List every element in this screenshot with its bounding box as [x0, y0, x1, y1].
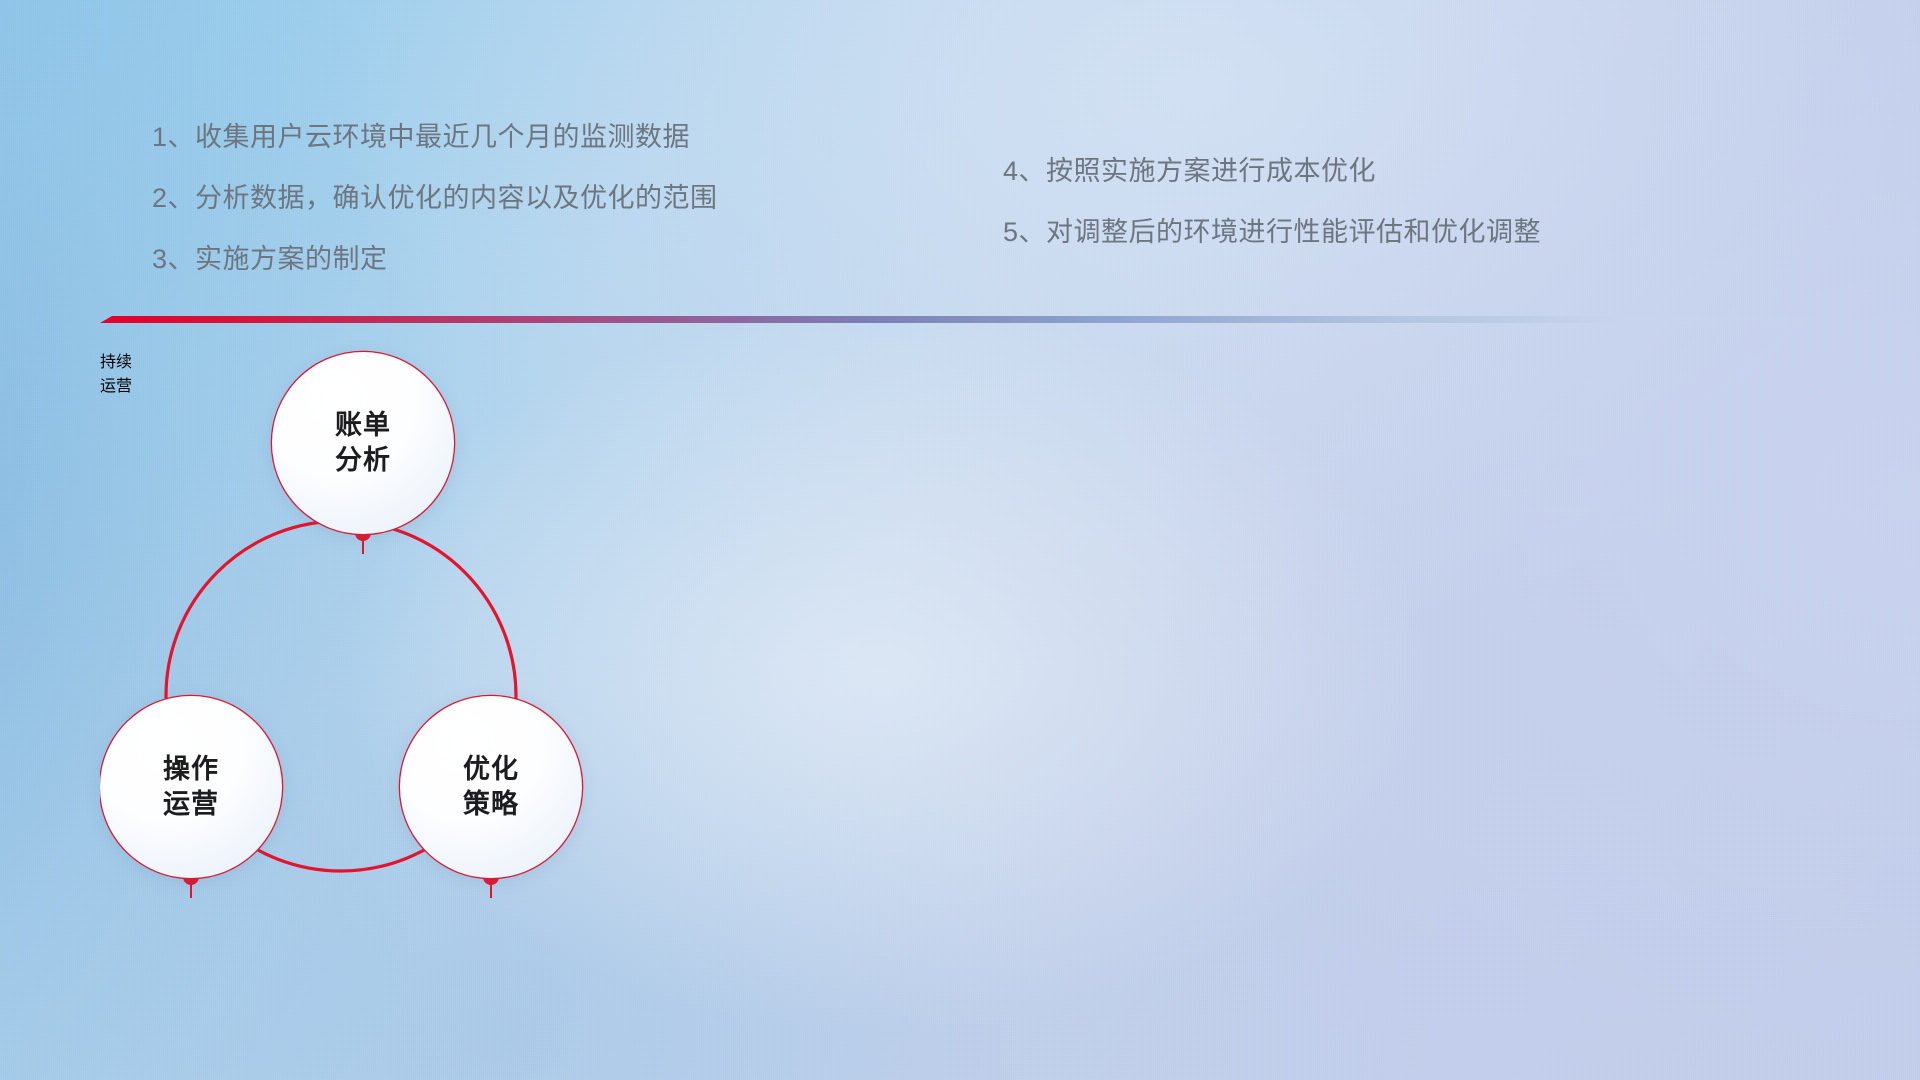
section-divider-rule: [100, 316, 1842, 323]
node-label-line2: 策略: [463, 787, 519, 822]
diagram-node-operations[interactable]: 操作 运营: [100, 696, 282, 878]
node-label-line2: 分析: [335, 443, 391, 478]
node-label-line1: 操作: [163, 752, 219, 787]
step-item-3: 3、实施方案的制定: [152, 246, 718, 273]
diagram-node-bill-analysis[interactable]: 账单 分析: [272, 352, 454, 534]
slide-canvas: 1、收集用户云环境中最近几个月的监测数据 2、分析数据，确认优化的内容以及优化的…: [0, 0, 1920, 1080]
step-item-1: 1、收集用户云环境中最近几个月的监测数据: [152, 124, 718, 151]
step-list-right: 4、按照实施方案进行成本优化 5、对调整后的环境进行性能评估和优化调整: [1003, 158, 1541, 246]
step-item-5: 5、对调整后的环境进行性能评估和优化调整: [1003, 219, 1541, 246]
node-label-line1: 优化: [463, 752, 519, 787]
step-item-2: 2、分析数据，确认优化的内容以及优化的范围: [152, 185, 718, 212]
node-label-line2: 运营: [163, 787, 219, 822]
continuous-operation-diagram: 账单 分析 操作 运营 优化 策略 持续 运营: [100, 348, 660, 958]
diagram-node-optimization-strategy[interactable]: 优化 策略: [400, 696, 582, 878]
node-label-line1: 账单: [335, 408, 391, 443]
step-item-4: 4、按照实施方案进行成本优化: [1003, 158, 1541, 185]
step-list-left: 1、收集用户云环境中最近几个月的监测数据 2、分析数据，确认优化的内容以及优化的…: [152, 124, 718, 273]
